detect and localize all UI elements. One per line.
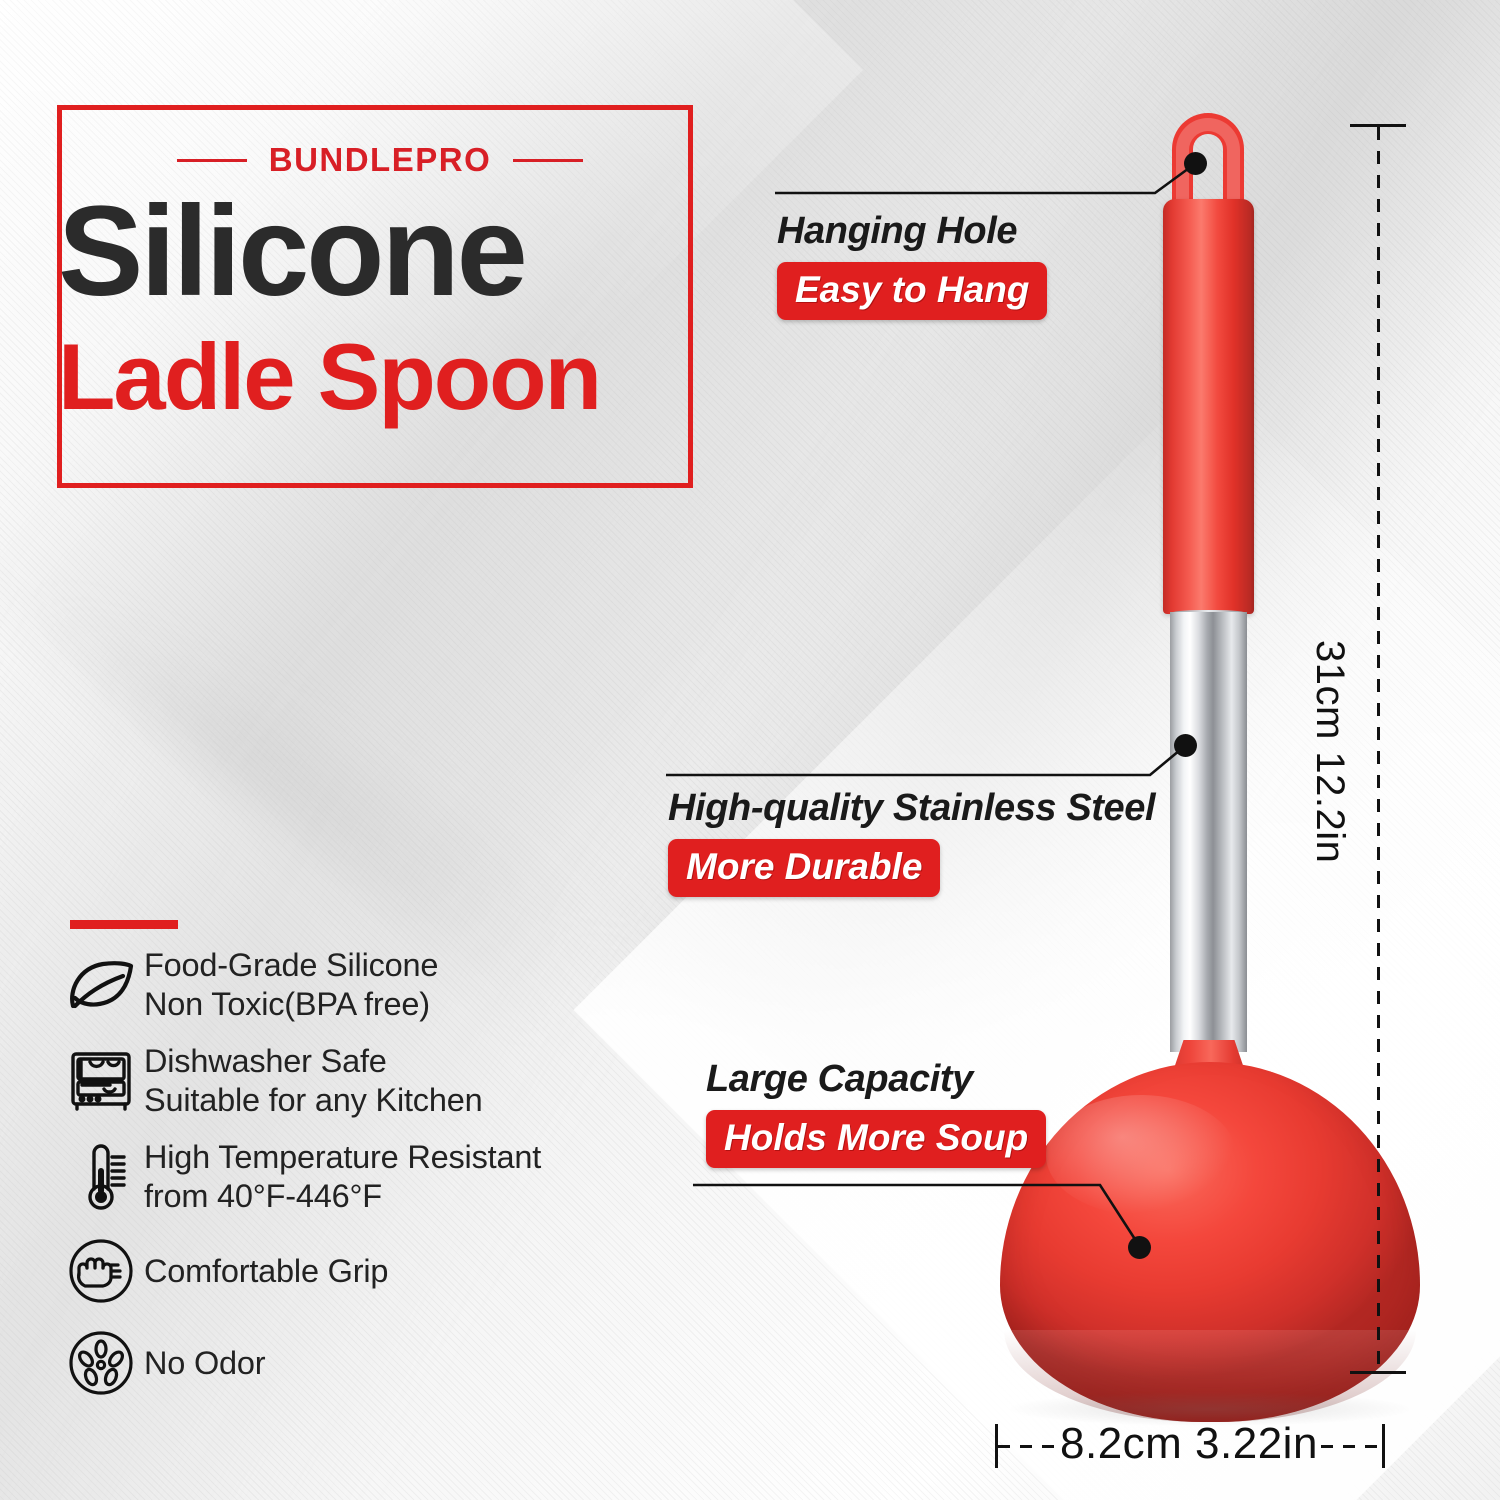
- dimension-cap-right: [1382, 1424, 1385, 1468]
- callout-title: High-quality Stainless Steel: [668, 787, 1155, 830]
- feature-line1: Dishwasher Safe: [144, 1043, 387, 1079]
- thermometer-icon: [58, 1140, 144, 1214]
- status-badge: Holds More Soup: [706, 1110, 1046, 1168]
- callout-hanging-hole: Hanging Hole Easy to Hang: [777, 210, 1047, 320]
- feature-line1: Food-Grade Silicone: [144, 947, 438, 983]
- leaf-icon: [58, 948, 144, 1022]
- dimension-label-length: 31cm 12.2in: [1307, 640, 1352, 863]
- brand-row: BUNDLEPRO: [90, 140, 670, 180]
- feature-item-food-grade-silicone: Food-Grade Silicone Non Toxic(BPA free): [58, 946, 618, 1024]
- feature-item-no-odor: No Odor: [58, 1326, 618, 1400]
- feature-line2: from 40°F-446°F: [144, 1177, 541, 1216]
- dimension-cap-bottom: [1350, 1371, 1406, 1374]
- infographic-canvas: BUNDLEPRO Silicone Ladle Spoon Food-Grad…: [0, 0, 1500, 1500]
- no-odor-icon: [58, 1326, 144, 1400]
- feature-text: Comfortable Grip: [144, 1252, 388, 1291]
- feature-text: Dishwasher Safe Suitable for any Kitchen: [144, 1042, 482, 1120]
- feature-item-high-temperature-resistant: High Temperature Resistant from 40°F-446…: [58, 1138, 618, 1216]
- feature-text: High Temperature Resistant from 40°F-446…: [144, 1138, 541, 1216]
- feature-list: Food-Grade Silicone Non Toxic(BPA free): [58, 946, 618, 1418]
- dimension-dashed-line: [1377, 127, 1380, 1371]
- dishwasher-icon: [58, 1044, 144, 1118]
- page-title-line1: Silicone: [58, 188, 698, 316]
- product-stainless-steel-shaft: [1170, 612, 1247, 1052]
- brand-name: BUNDLEPRO: [269, 141, 492, 179]
- feature-line2: Non Toxic(BPA free): [144, 985, 438, 1024]
- callout-large-capacity: Large Capacity Holds More Soup: [706, 1058, 1046, 1168]
- brand-rule-left: [177, 159, 247, 162]
- dimension-dashes-left: [998, 1445, 1056, 1448]
- status-badge: Easy to Hang: [777, 262, 1047, 320]
- feature-text: Food-Grade Silicone Non Toxic(BPA free): [144, 946, 438, 1024]
- feature-text: No Odor: [144, 1344, 265, 1383]
- dimension-label-width: 8.2cm 3.22in: [1060, 1419, 1318, 1469]
- callout-anchor-dot-stainless-steel: [1174, 734, 1197, 757]
- feature-item-dishwasher-safe: Dishwasher Safe Suitable for any Kitchen: [58, 1042, 618, 1120]
- callout-anchor-dot-hanging-hole: [1184, 152, 1207, 175]
- callout-anchor-dot-large-capacity: [1128, 1236, 1151, 1259]
- dimension-dashes-right: [1321, 1445, 1379, 1448]
- product-bowl-highlight: [1046, 1095, 1236, 1215]
- feature-line1: No Odor: [144, 1345, 265, 1381]
- feature-line1: High Temperature Resistant: [144, 1139, 541, 1175]
- feature-list-rule: [70, 920, 178, 929]
- feature-line2: Suitable for any Kitchen: [144, 1081, 482, 1120]
- callout-stainless-steel: High-quality Stainless Steel More Durabl…: [668, 787, 1155, 897]
- callout-title: Hanging Hole: [777, 210, 1047, 253]
- page-title-line2: Ladle Spoon: [58, 330, 698, 424]
- product-silicone-handle: [1163, 199, 1254, 614]
- feature-line1: Comfortable Grip: [144, 1253, 388, 1289]
- callout-title: Large Capacity: [706, 1058, 1046, 1101]
- brand-rule-right: [513, 159, 583, 162]
- hand-grip-icon: [58, 1234, 144, 1308]
- status-badge: More Durable: [668, 839, 940, 897]
- feature-item-comfortable-grip: Comfortable Grip: [58, 1234, 618, 1308]
